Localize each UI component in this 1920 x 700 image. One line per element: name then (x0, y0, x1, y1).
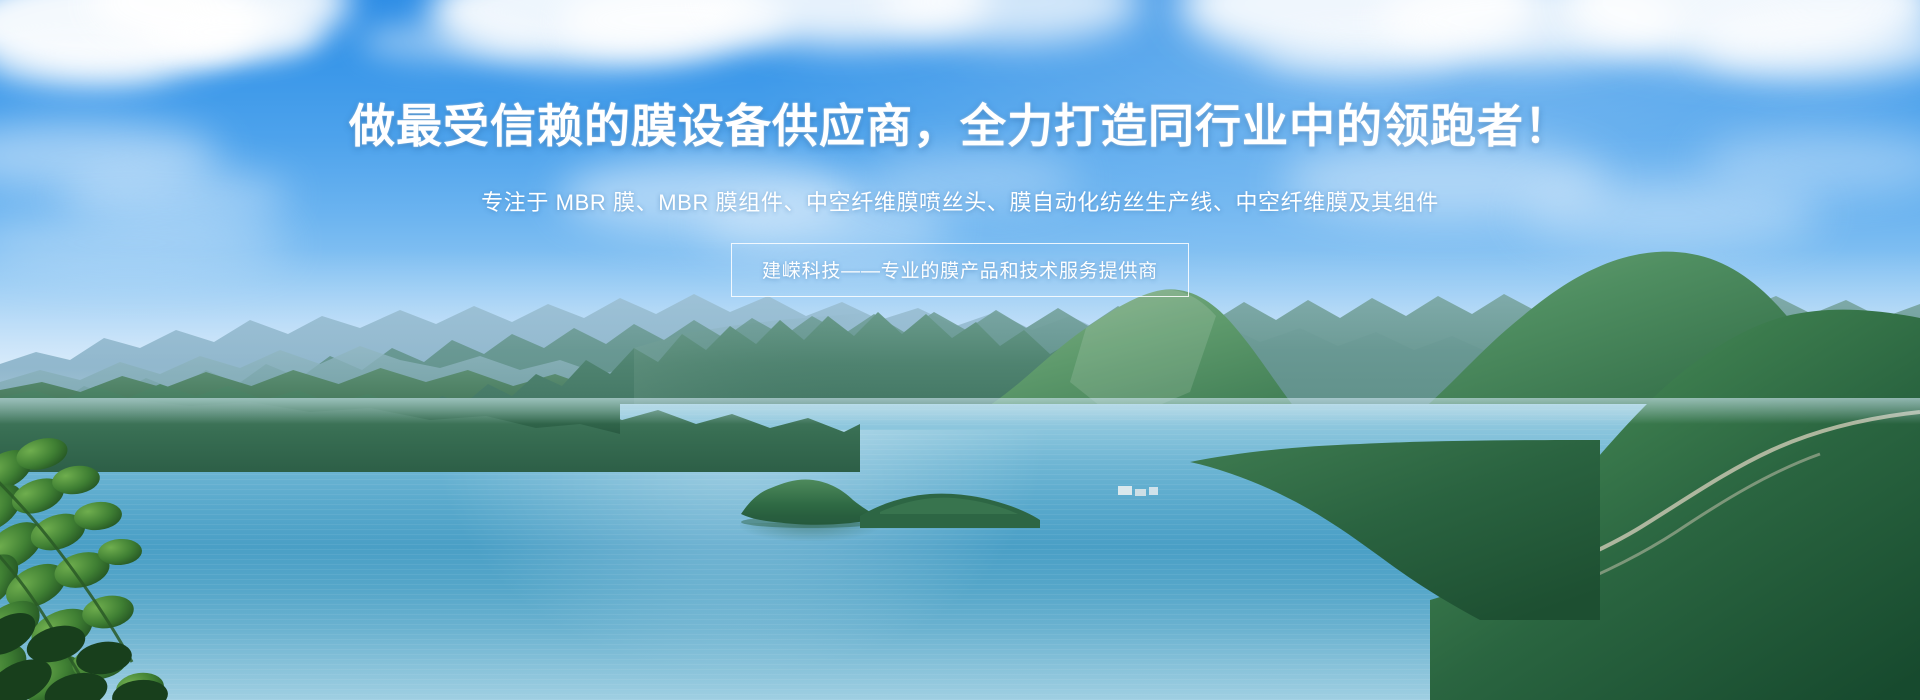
banner-tagline-box: 建嵘科技——专业的膜产品和技术服务提供商 (731, 243, 1189, 297)
banner-subtitle: 专注于 MBR 膜、MBR 膜组件、中空纤维膜喷丝头、膜自动化纺丝生产线、中空纤… (0, 186, 1920, 219)
banner-headline: 做最受信赖的膜设备供应商，全力打造同行业中的领跑者！ (0, 98, 1920, 156)
banner-text-overlay: 做最受信赖的膜设备供应商，全力打造同行业中的领跑者！ 专注于 MBR 膜、MBR… (0, 0, 1920, 700)
banner-tagline-row: 建嵘科技——专业的膜产品和技术服务提供商 (0, 243, 1920, 297)
hero-banner: 做最受信赖的膜设备供应商，全力打造同行业中的领跑者！ 专注于 MBR 膜、MBR… (0, 0, 1920, 700)
